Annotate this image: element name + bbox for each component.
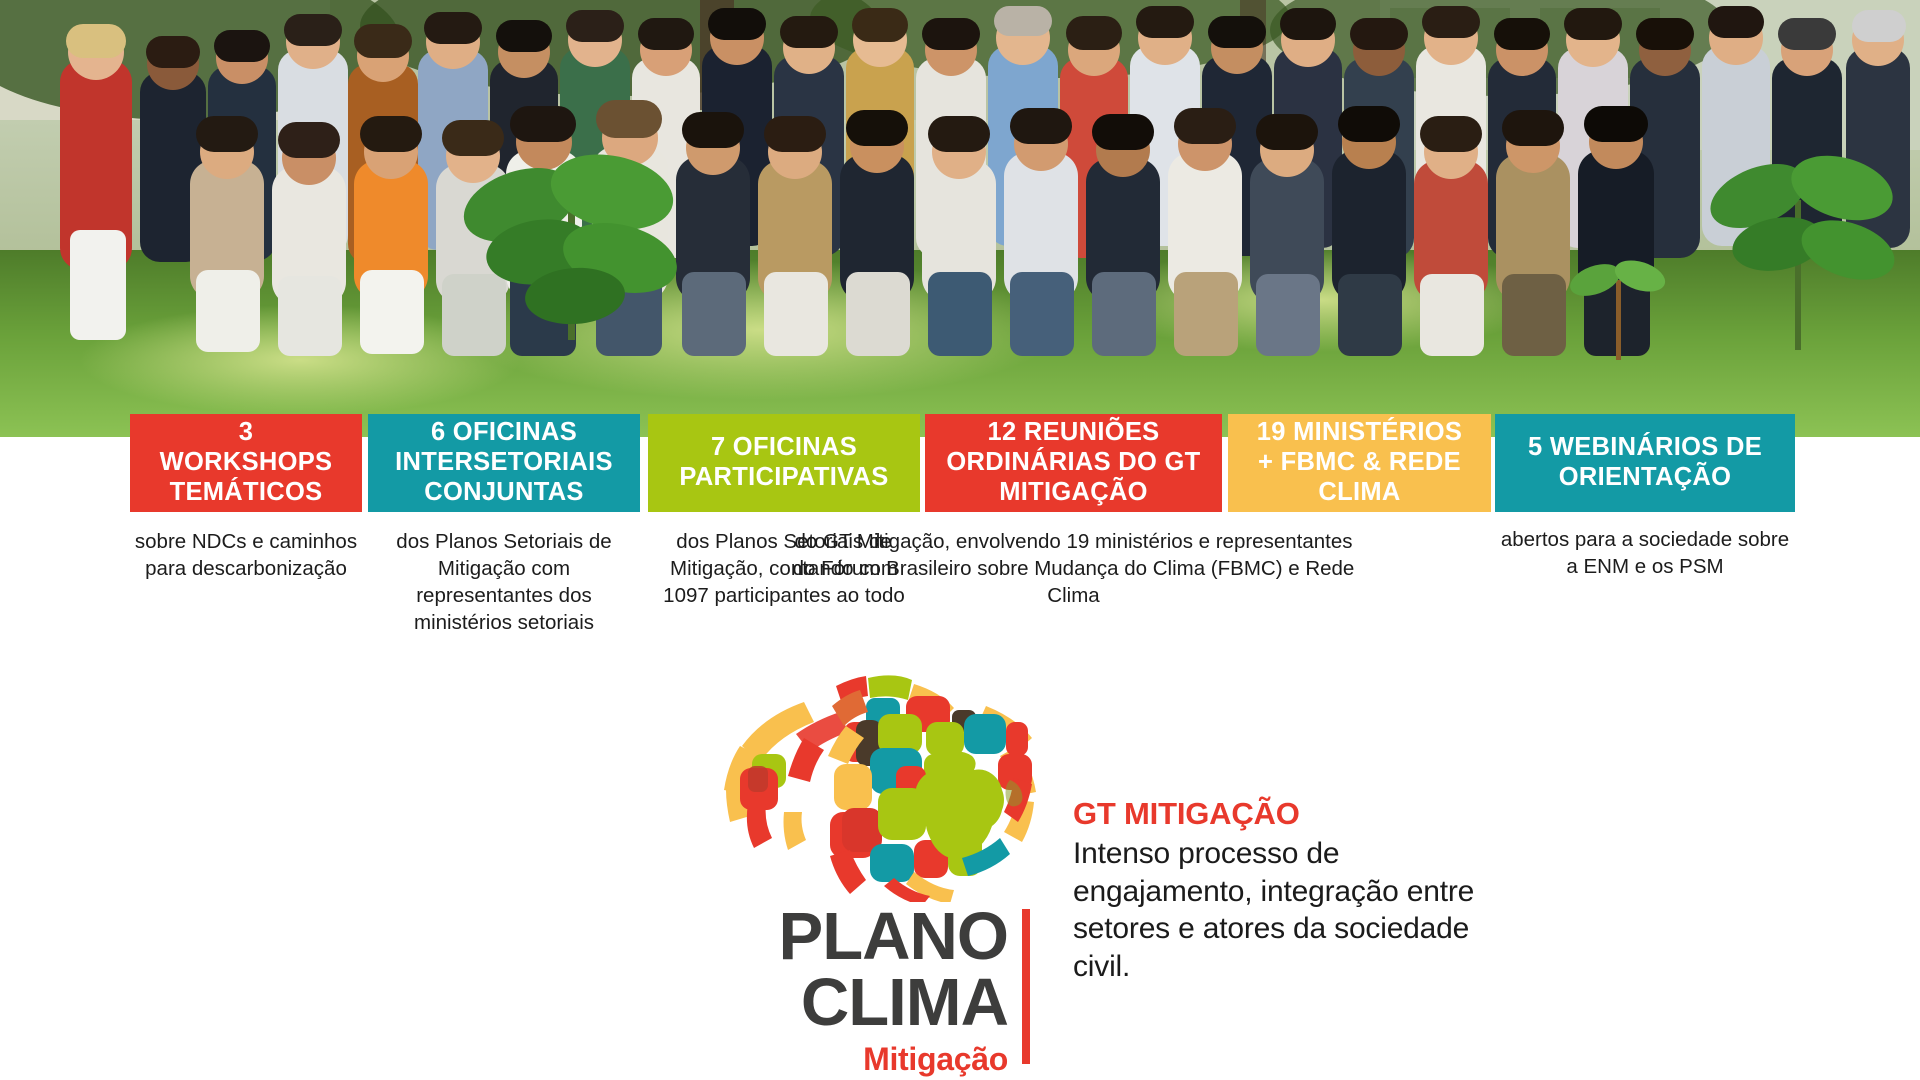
infographic-page: 3 WORKSHOPS TEMÁTICOS sobre NDCs e camin… bbox=[0, 0, 1920, 1080]
stat-card-reunioes-ordinarias[interactable]: 12 REUNIÕES ORDINÁRIAS DO GT MITIGAÇÃO d… bbox=[925, 414, 1222, 609]
gt-mitigacao-title: GT MITIGAÇÃO bbox=[1073, 795, 1513, 833]
stat-card-headline-box: 5 WEBINÁRIOS DE ORIENTAÇÃO bbox=[1495, 414, 1795, 512]
wordmark-line-plano: PLANO bbox=[650, 904, 1008, 970]
group-photo-banner bbox=[0, 0, 1920, 437]
stat-card-caption: sobre NDCs e caminhos para descarbonizaç… bbox=[130, 528, 362, 582]
stat-card-headline-box: 19 MINISTÉRIOS + FBMC & REDE CLIMA bbox=[1228, 414, 1491, 512]
stat-card-headline-box: 12 REUNIÕES ORDINÁRIAS DO GT MITIGAÇÃO bbox=[925, 414, 1222, 512]
stat-card-headline-box: 7 OFICINAS PARTICIPATIVAS bbox=[648, 414, 920, 512]
wordmark-line-clima: CLIMA bbox=[650, 970, 1008, 1036]
stat-card-headline: 12 REUNIÕES ORDINÁRIAS DO GT MITIGAÇÃO bbox=[946, 418, 1200, 507]
gt-mitigacao-section: GT MITIGAÇÃO Intenso processo de engajam… bbox=[1073, 795, 1513, 986]
gt-mitigacao-body: Intenso processo de engajamento, integra… bbox=[1073, 835, 1513, 986]
stat-card-headline: 5 WEBINÁRIOS DE ORIENTAÇÃO bbox=[1528, 433, 1762, 493]
globe-mosaic-icon bbox=[718, 672, 1048, 902]
plano-clima-wordmark: PLANO CLIMA Mitigação bbox=[650, 904, 1110, 1079]
plano-clima-globe-icon bbox=[718, 672, 1048, 902]
stat-card-webinarios-orientacao[interactable]: 5 WEBINÁRIOS DE ORIENTAÇÃO abertos para … bbox=[1495, 414, 1795, 580]
stat-card-caption: dos Planos Setoriais de Mitigação com re… bbox=[368, 528, 640, 636]
stat-card-oficinas-intersetoriais[interactable]: 6 OFICINAS INTERSETORIAIS CONJUNTAS dos … bbox=[368, 414, 640, 636]
stat-card-headline: 7 OFICINAS PARTICIPATIVAS bbox=[679, 433, 888, 493]
stat-card-headline: 19 MINISTÉRIOS + FBMC & REDE CLIMA bbox=[1257, 418, 1462, 507]
stat-card-caption: abertos para a sociedade sobre a ENM e o… bbox=[1495, 526, 1795, 580]
wordmark-red-bar bbox=[1022, 909, 1030, 1064]
stat-card-caption: do GT Mitigação, envolvendo 19 ministéri… bbox=[789, 528, 1359, 609]
stat-card-workshops-tematicos[interactable]: 3 WORKSHOPS TEMÁTICOS sobre NDCs e camin… bbox=[130, 414, 362, 582]
stat-card-ministerios-fbmc-rede-clima[interactable]: 19 MINISTÉRIOS + FBMC & REDE CLIMA bbox=[1228, 414, 1491, 512]
group-photo-illustration bbox=[0, 0, 1920, 437]
stat-card-headline: 6 OFICINAS INTERSETORIAIS CONJUNTAS bbox=[395, 418, 613, 507]
stat-card-headline-box: 3 WORKSHOPS TEMÁTICOS bbox=[130, 414, 362, 512]
wordmark-subtitle: Mitigação bbox=[650, 1039, 1008, 1079]
stat-card-headline: 3 WORKSHOPS TEMÁTICOS bbox=[160, 418, 333, 507]
stat-card-headline-box: 6 OFICINAS INTERSETORIAIS CONJUNTAS bbox=[368, 414, 640, 512]
